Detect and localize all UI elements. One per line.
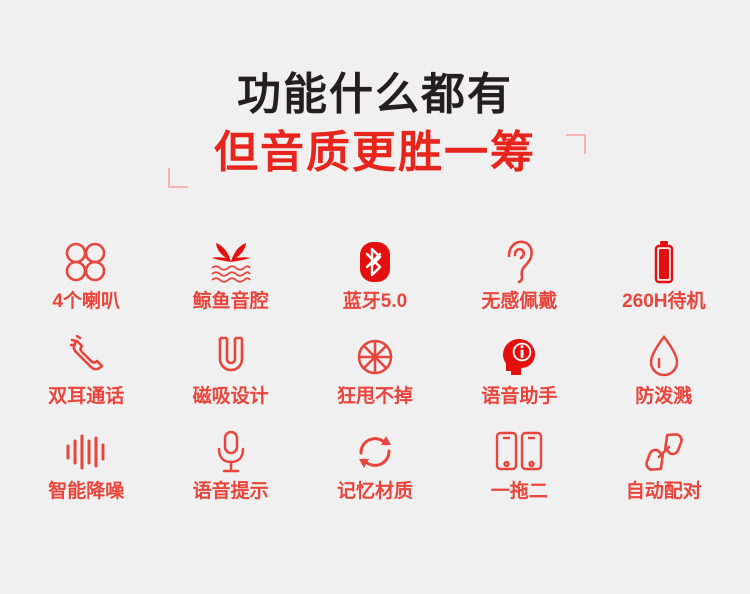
feature-grid: 4个喇叭 鲸鱼音腔	[14, 238, 736, 523]
two-phones-icon	[494, 428, 544, 476]
feature-item: 4个喇叭	[14, 238, 158, 333]
feature-label: 鲸鱼音腔	[193, 291, 269, 313]
water-drop-icon	[647, 333, 681, 381]
feature-label: 语音助手	[481, 386, 557, 408]
feature-item: 260H待机	[592, 238, 736, 333]
refresh-cycle-icon	[353, 428, 397, 476]
feature-item: 语音提示	[158, 428, 302, 523]
feature-label: 智能降噪	[48, 481, 124, 503]
microphone-icon	[214, 428, 248, 476]
feature-label: 磁吸设计	[193, 386, 269, 408]
feature-item: 蓝牙5.0	[303, 238, 447, 333]
feature-label: 记忆材质	[337, 481, 413, 503]
feature-label: 一拖二	[491, 481, 548, 503]
magnet-icon	[212, 333, 250, 381]
feature-item: 鲸鱼音腔	[158, 238, 302, 333]
promo-feature-page: 功能什么都有 但音质更胜一筹 4个喇叭	[0, 0, 750, 594]
feature-item: 智能降噪	[14, 428, 158, 523]
headline-line-1: 功能什么都有	[0, 68, 750, 122]
feature-item: 自动配对	[592, 428, 736, 523]
feature-item: 无感佩戴	[447, 238, 591, 333]
basketball-icon	[353, 333, 397, 381]
ear-icon	[501, 238, 537, 286]
phone-handset-icon	[64, 333, 108, 381]
feature-label: 狂甩不掉	[337, 386, 413, 408]
feature-item: 狂甩不掉	[303, 333, 447, 428]
feature-label: 双耳通话	[48, 386, 124, 408]
feature-label: 自动配对	[626, 481, 702, 503]
sound-wave-icon	[63, 428, 109, 476]
four-speakers-icon	[63, 238, 109, 286]
headline-line-2: 但音质更胜一筹	[0, 124, 750, 182]
feature-label: 无感佩戴	[481, 291, 557, 313]
feature-label: 4个喇叭	[52, 291, 120, 313]
battery-icon	[650, 238, 678, 286]
feature-item: 磁吸设计	[158, 333, 302, 428]
feature-item: 一拖二	[447, 428, 591, 523]
feature-item: 双耳通话	[14, 333, 158, 428]
page-title: 功能什么都有 但音质更胜一筹	[0, 68, 750, 182]
bluetooth-icon	[358, 238, 392, 286]
feature-item: 记忆材质	[303, 428, 447, 523]
feature-label: 语音提示	[193, 481, 269, 503]
feature-item: 语音助手	[447, 333, 591, 428]
feature-item: 防泼溅	[592, 333, 736, 428]
whale-tail-icon	[204, 238, 258, 286]
feature-label: 防泼溅	[635, 386, 692, 408]
feature-label: 260H待机	[622, 291, 705, 313]
chain-link-icon	[642, 428, 686, 476]
voice-assistant-head-icon	[498, 333, 540, 381]
feature-label: 蓝牙5.0	[343, 291, 407, 313]
